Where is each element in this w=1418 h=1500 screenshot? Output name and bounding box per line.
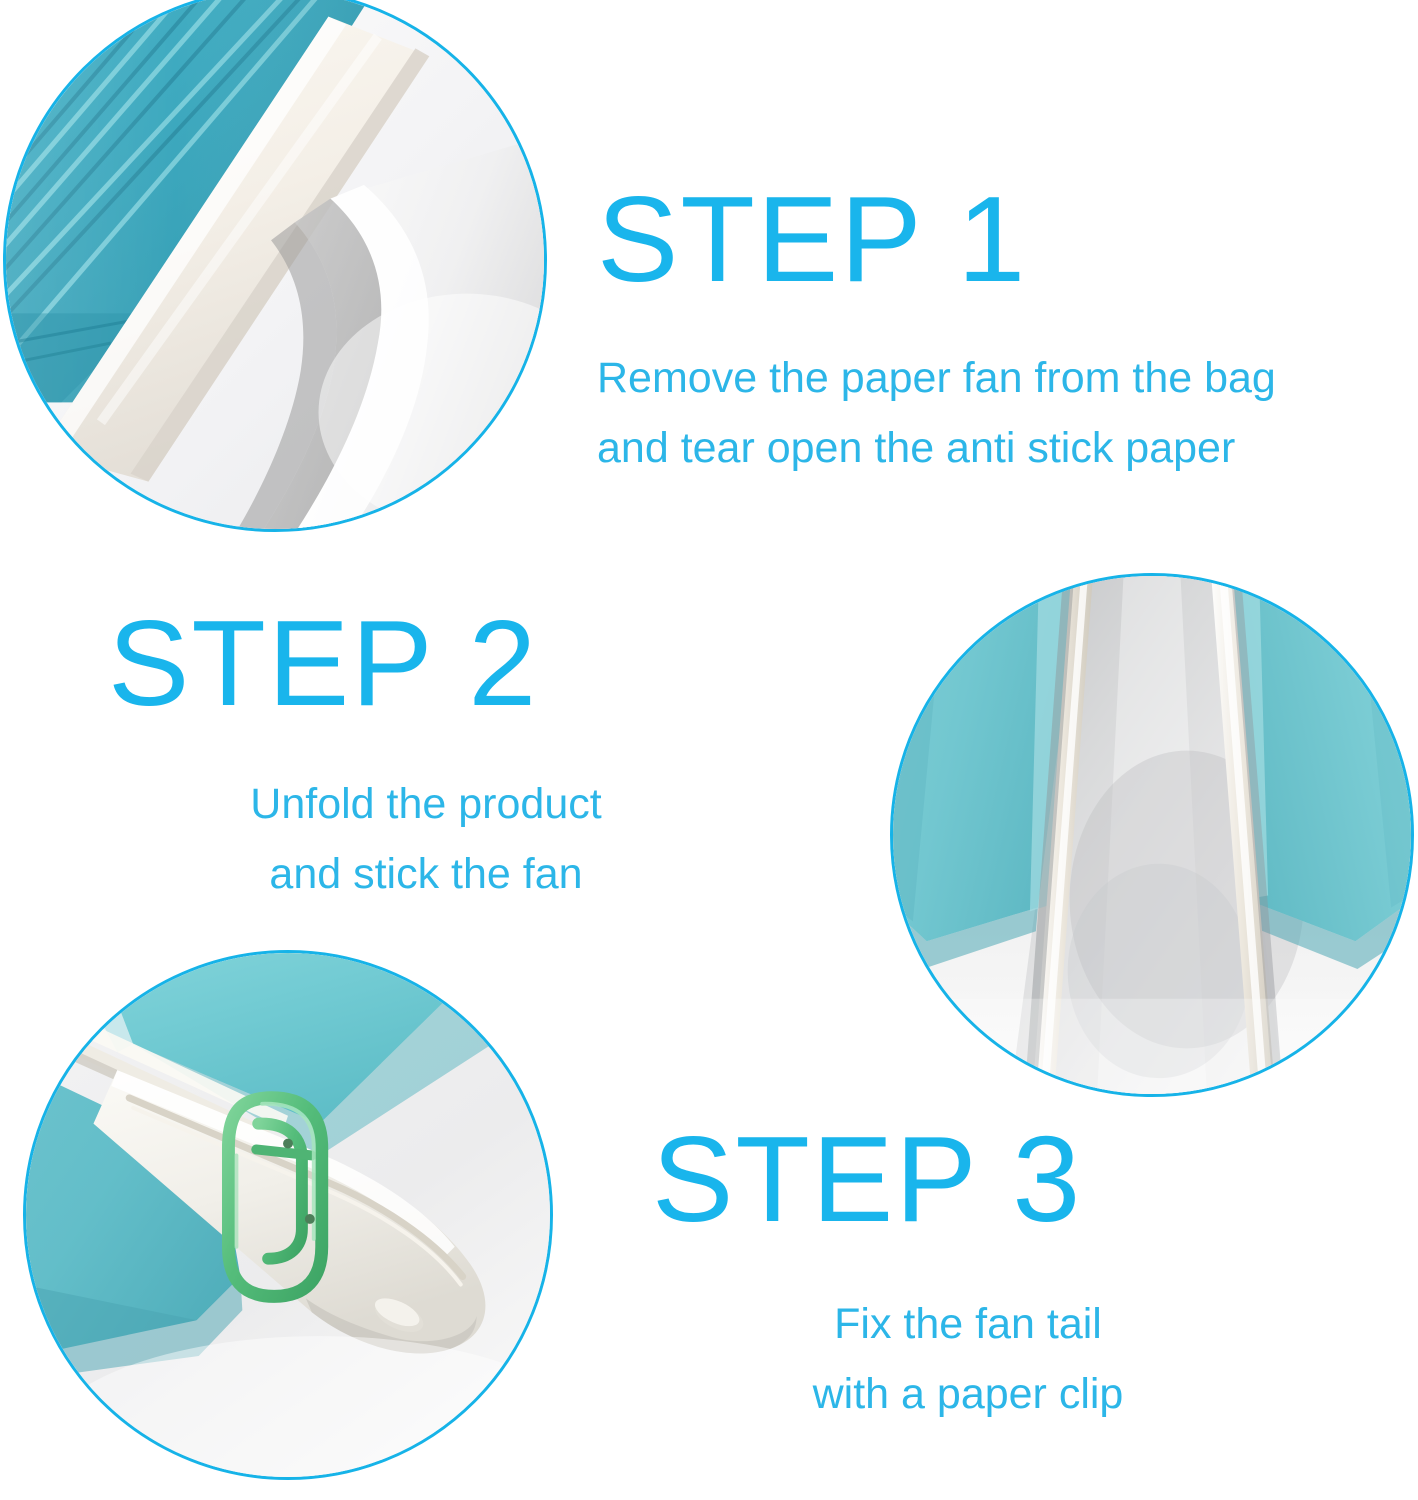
paper-fan-with-adhesive-strip-illustration (3, 0, 547, 532)
step-2-title: STEP 2 (108, 602, 746, 724)
step-1-description-line-2: and tear open the anti stick paper (597, 414, 1276, 484)
step-3-text-block: STEP 3 Fix the fan tail with a paper cli… (648, 1118, 1288, 1429)
unfolded-fan-center-panel-illustration (890, 573, 1414, 1097)
infographic-page: STEP 1 Remove the paper fan from the bag… (0, 0, 1418, 1500)
step-3-photo-image (23, 950, 553, 1480)
step-2-description-line-1: Unfold the product (106, 770, 746, 840)
step-1-photo-circle (3, 0, 547, 532)
step-1-description: Remove the paper fan from the bag and te… (597, 344, 1276, 483)
step-3-description: Fix the fan tail with a paper clip (648, 1290, 1288, 1429)
step-2-photo-circle (890, 573, 1414, 1097)
step-1-title: STEP 1 (597, 178, 1276, 300)
fan-tail-with-green-paper-clip-illustration (23, 950, 553, 1480)
step-2-description-line-2: and stick the fan (106, 840, 746, 910)
step-3-description-line-2: with a paper clip (648, 1360, 1288, 1430)
step-2-text-block: STEP 2 Unfold the product and stick the … (106, 602, 746, 909)
step-3-description-line-1: Fix the fan tail (648, 1290, 1288, 1360)
step-1-description-line-1: Remove the paper fan from the bag (597, 344, 1276, 414)
step-1-text-block: STEP 1 Remove the paper fan from the bag… (597, 178, 1276, 483)
step-2-photo-image (890, 573, 1414, 1097)
step-3-title: STEP 3 (652, 1118, 1288, 1240)
step-3-photo-circle (23, 950, 553, 1480)
step-2-description: Unfold the product and stick the fan (106, 770, 746, 909)
step-1-photo-image (3, 0, 547, 532)
